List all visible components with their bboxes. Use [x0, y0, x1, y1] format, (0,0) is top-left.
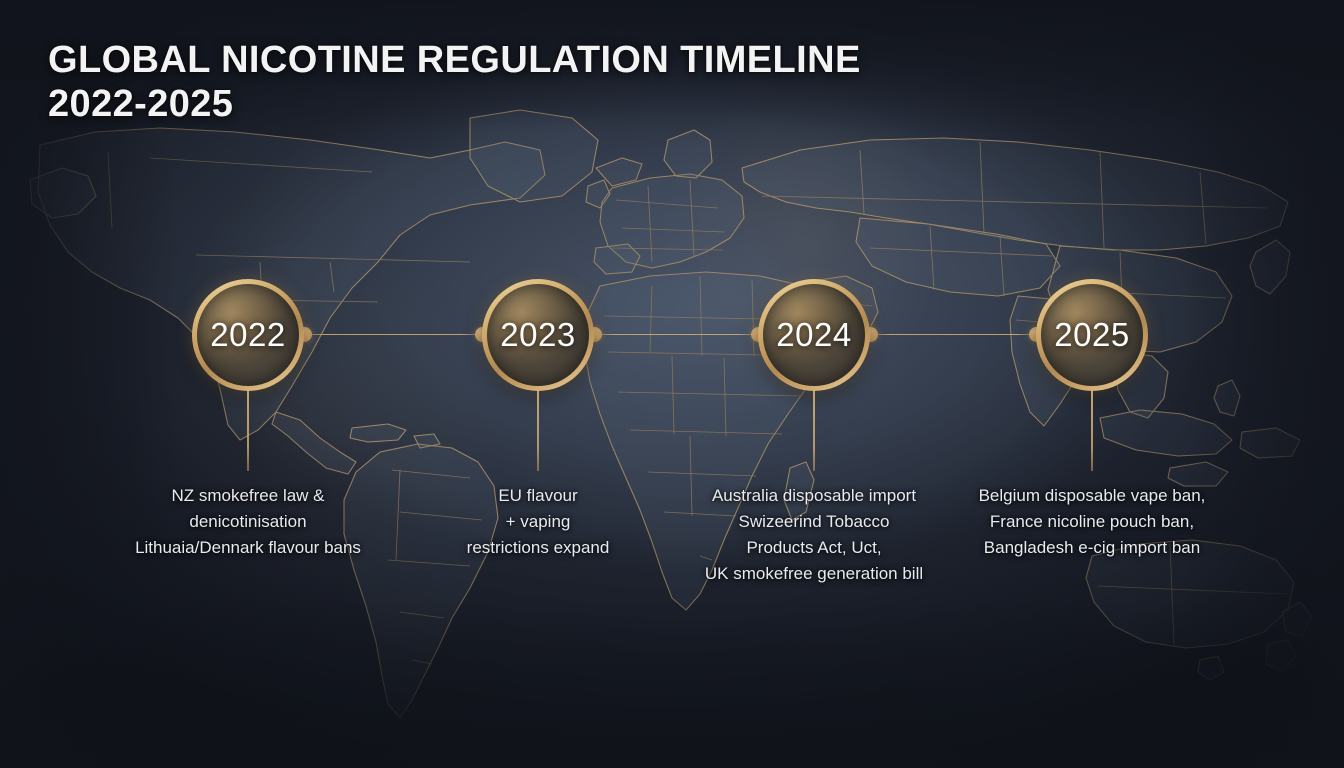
node-year-label: 2023 — [500, 316, 575, 354]
node-year-label: 2025 — [1054, 316, 1129, 354]
timeline-connector — [594, 334, 758, 335]
infographic-canvas: GLOBAL NICOTINE REGULATION TIMELINE 2022… — [0, 0, 1344, 768]
node-stem — [247, 391, 249, 471]
timeline-node-2024[interactable]: 2024 — [758, 279, 870, 391]
node-year-label: 2022 — [210, 316, 285, 354]
node-stem — [1091, 391, 1093, 471]
timeline-node-2023[interactable]: 2023 — [482, 279, 594, 391]
caption-line: France nicoline pouch ban, — [882, 509, 1302, 535]
node-stem — [537, 391, 539, 471]
timeline-connector — [870, 334, 1036, 335]
node-stem — [813, 391, 815, 471]
node-inner-disc: 2024 — [763, 284, 865, 386]
title-line-1: GLOBAL NICOTINE REGULATION TIMELINE — [48, 38, 861, 82]
node-caption-2025: Belgium disposable vape ban,France nicol… — [882, 483, 1302, 561]
page-title: GLOBAL NICOTINE REGULATION TIMELINE 2022… — [48, 38, 861, 126]
node-year-label: 2024 — [776, 316, 851, 354]
timeline-connector — [304, 334, 482, 335]
timeline-node-2022[interactable]: 2022 — [192, 279, 304, 391]
node-inner-disc: 2025 — [1041, 284, 1143, 386]
node-inner-disc: 2023 — [487, 284, 589, 386]
caption-line: Bangladesh e-cig import ban — [882, 535, 1302, 561]
caption-line: Belgium disposable vape ban, — [882, 483, 1302, 509]
timeline-node-2025[interactable]: 2025 — [1036, 279, 1148, 391]
title-line-2: 2022-2025 — [48, 82, 861, 126]
node-inner-disc: 2022 — [197, 284, 299, 386]
caption-line: UK smokefree generation bill — [604, 561, 1024, 587]
